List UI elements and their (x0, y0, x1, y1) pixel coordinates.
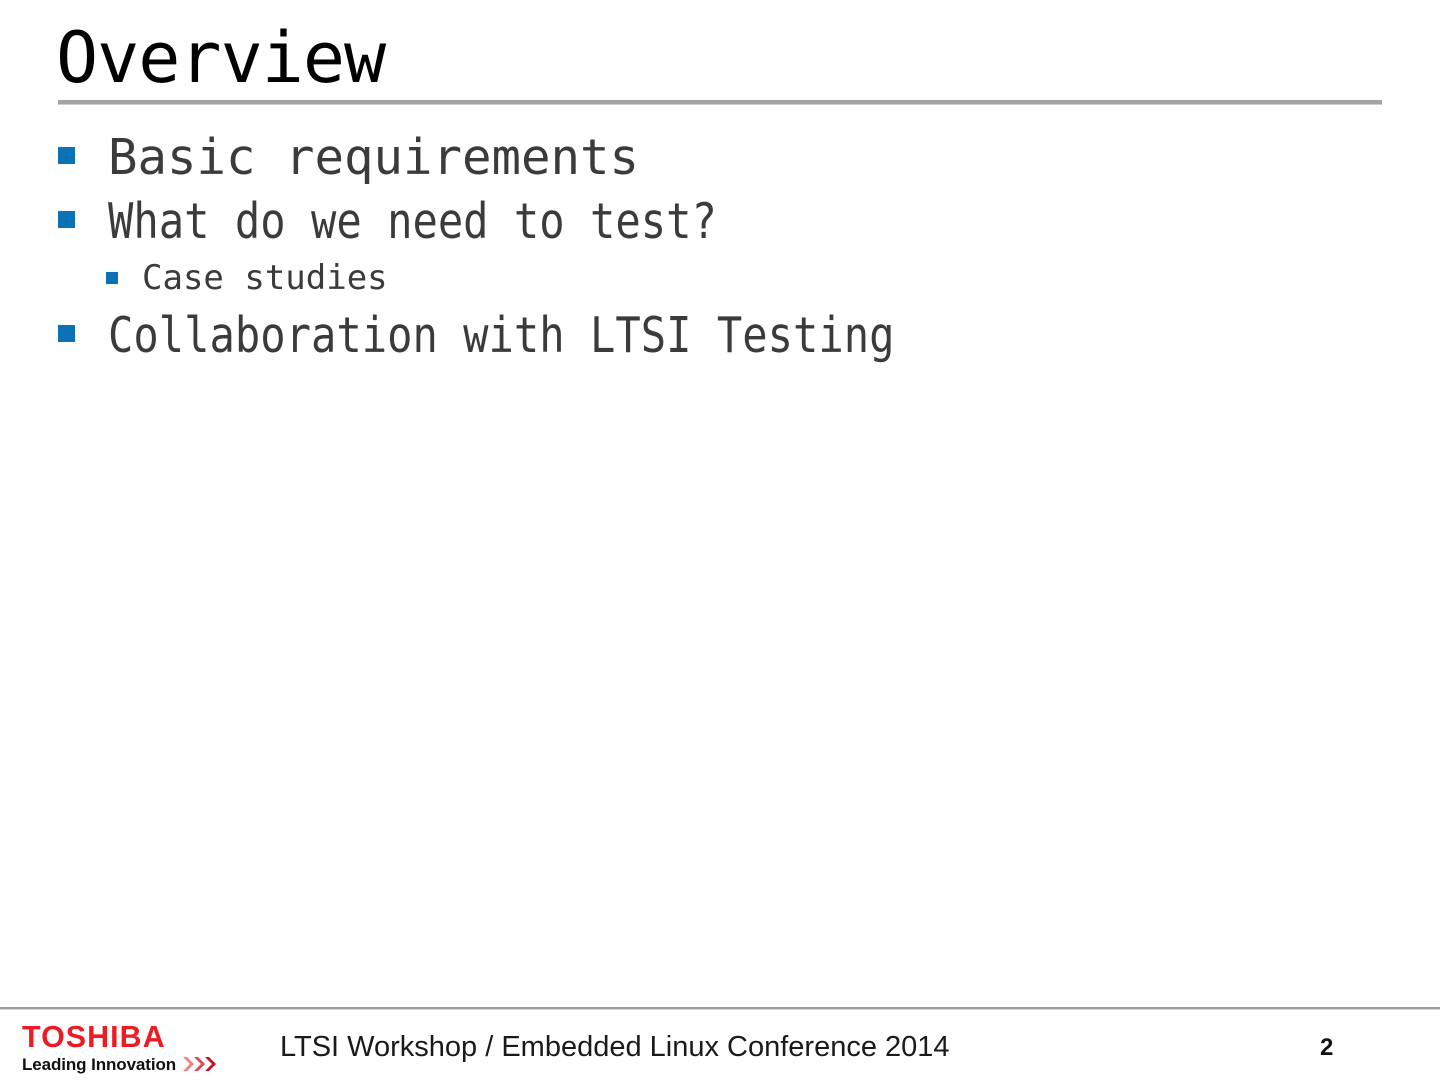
list-item-sub: Case studies (106, 256, 1388, 300)
title-divider (58, 100, 1382, 105)
list-item-label: Case studies (142, 256, 388, 300)
list-item: Basic requirements (58, 128, 1388, 188)
square-bullet-icon (58, 211, 75, 228)
list-item-label: What do we need to test? (108, 192, 717, 252)
toshiba-tagline: Leading Innovation (22, 1055, 176, 1074)
square-bullet-icon (58, 325, 75, 342)
triple-chevron-right-icon (182, 1056, 224, 1072)
list-item: What do we need to test? (58, 192, 1388, 252)
bullet-list: Basic requirements What do we need to te… (58, 128, 1388, 370)
slide-footer: TOSHIBA Leading Innovation LTSI Workshop… (0, 1010, 1440, 1080)
title-block: Overview (56, 22, 1386, 102)
toshiba-logo: TOSHIBA Leading Innovation (22, 1022, 232, 1076)
square-bullet-icon (58, 147, 75, 164)
list-item-label: Basic requirements (108, 128, 639, 188)
footer-center-text: LTSI Workshop / Embedded Linux Conferenc… (280, 1030, 950, 1064)
toshiba-tagline-row: Leading Innovation (22, 1055, 232, 1074)
page-number: 2 (1320, 1034, 1360, 1062)
square-bullet-icon (106, 272, 118, 284)
list-item-label: Collaboration with LTSI Testing (108, 306, 894, 366)
slide-canvas: Overview Basic requirements What do we n… (0, 0, 1440, 1080)
page-title: Overview (56, 22, 1386, 94)
list-item: Collaboration with LTSI Testing (58, 306, 1388, 366)
toshiba-wordmark: TOSHIBA (22, 1022, 228, 1052)
